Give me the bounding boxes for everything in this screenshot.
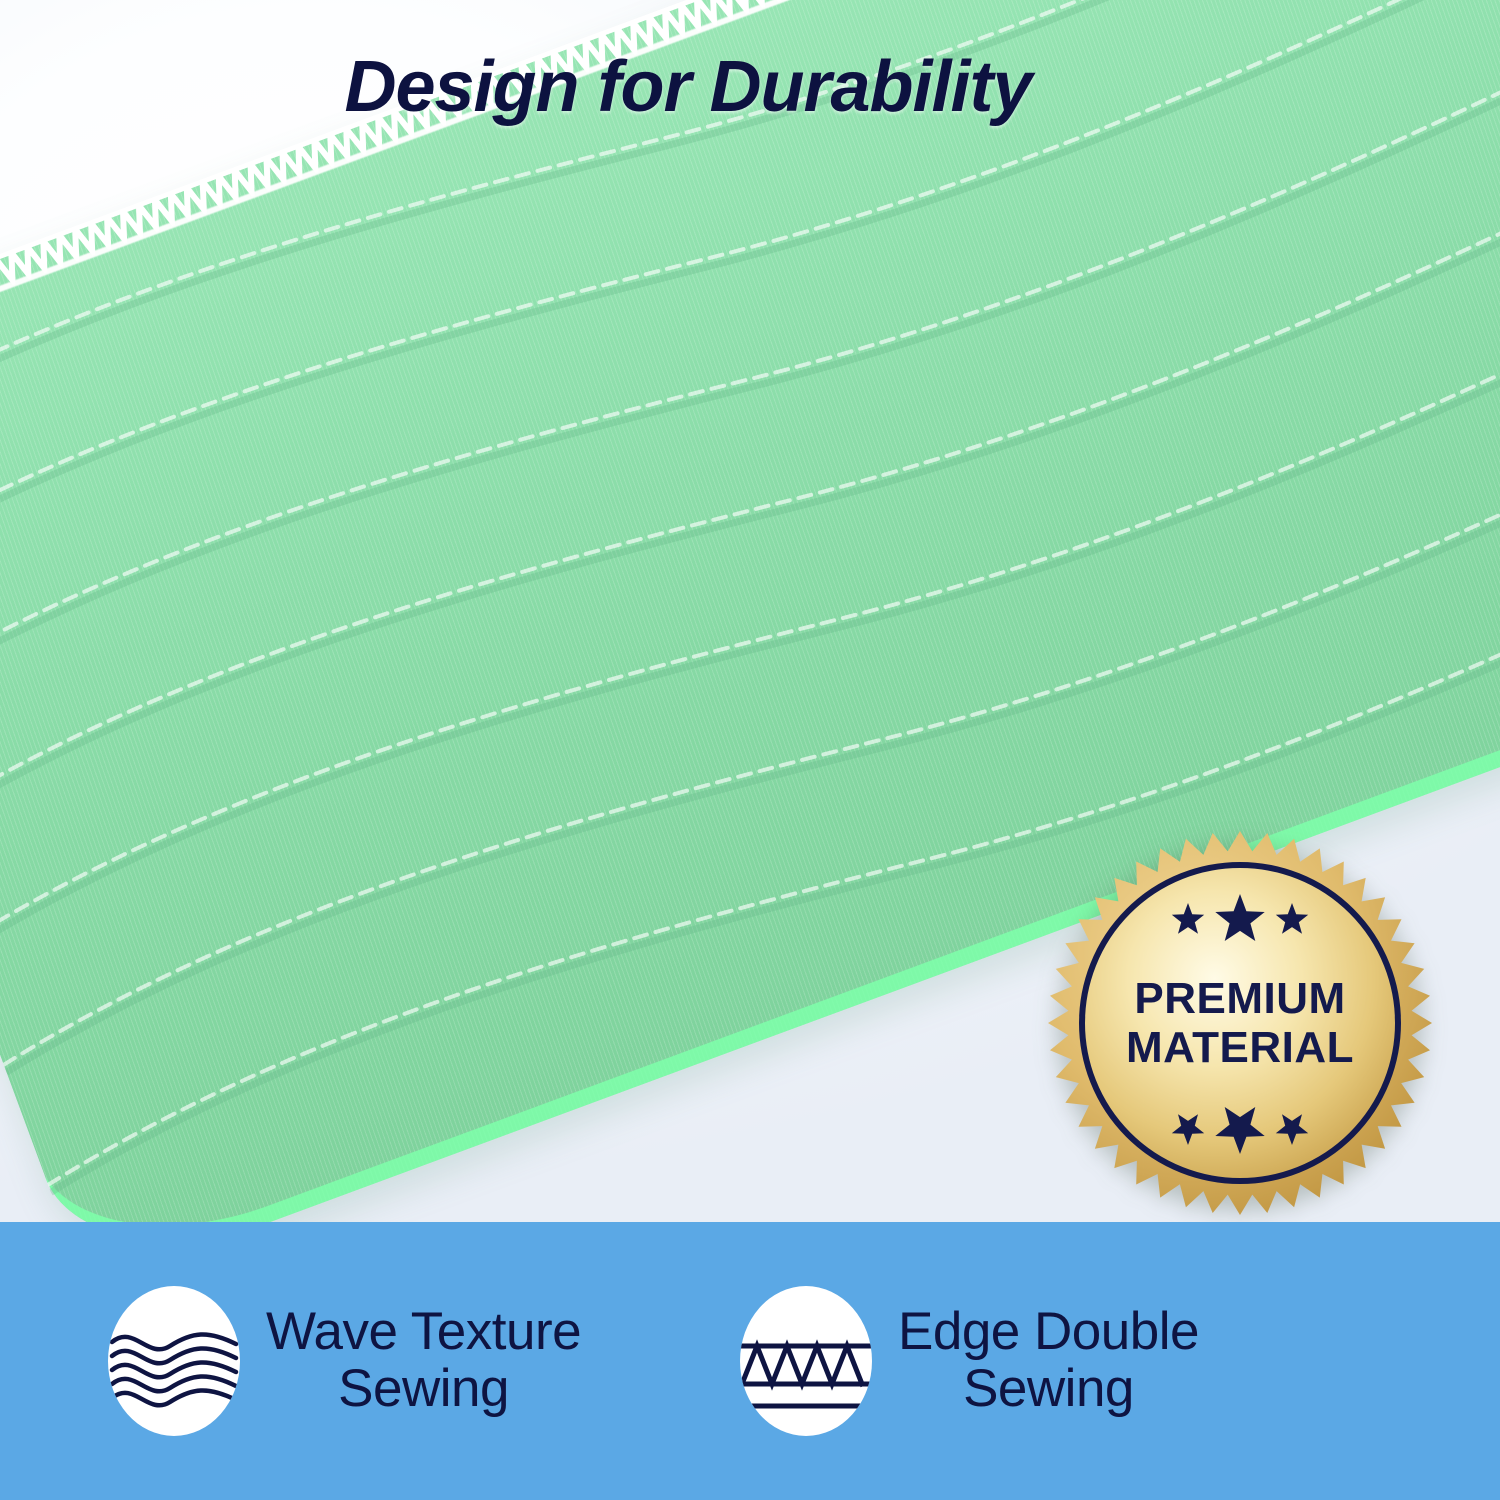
- feature-label-line1: Wave Texture: [266, 1302, 581, 1361]
- feature-label-line2: Sewing: [898, 1361, 1199, 1418]
- wave-stitch-icon: [108, 1286, 240, 1436]
- feature-label-line2: Sewing: [266, 1361, 581, 1418]
- feature-label-wave-texture: Wave Texture Sewing: [266, 1304, 581, 1417]
- feature-band: Wave Texture Sewing E: [0, 1222, 1500, 1500]
- feature-label-line1: Edge Double: [898, 1302, 1199, 1361]
- page-title: Design for Durability: [0, 46, 1438, 128]
- zigzag-edge-stitch-icon: [740, 1286, 872, 1436]
- premium-material-badge: PREMIUM MATERIAL: [1045, 828, 1435, 1218]
- feature-list: Wave Texture Sewing E: [0, 1222, 1500, 1500]
- feature-item-wave-texture: Wave Texture Sewing: [108, 1286, 728, 1436]
- product-feature-image: PREMIUM MATERIAL Design for Durability: [0, 0, 1500, 1500]
- feature-item-edge-double: Edge Double Sewing: [740, 1286, 1360, 1436]
- product-photo: PREMIUM MATERIAL: [0, 0, 1500, 1222]
- feature-label-edge-double: Edge Double Sewing: [898, 1304, 1199, 1417]
